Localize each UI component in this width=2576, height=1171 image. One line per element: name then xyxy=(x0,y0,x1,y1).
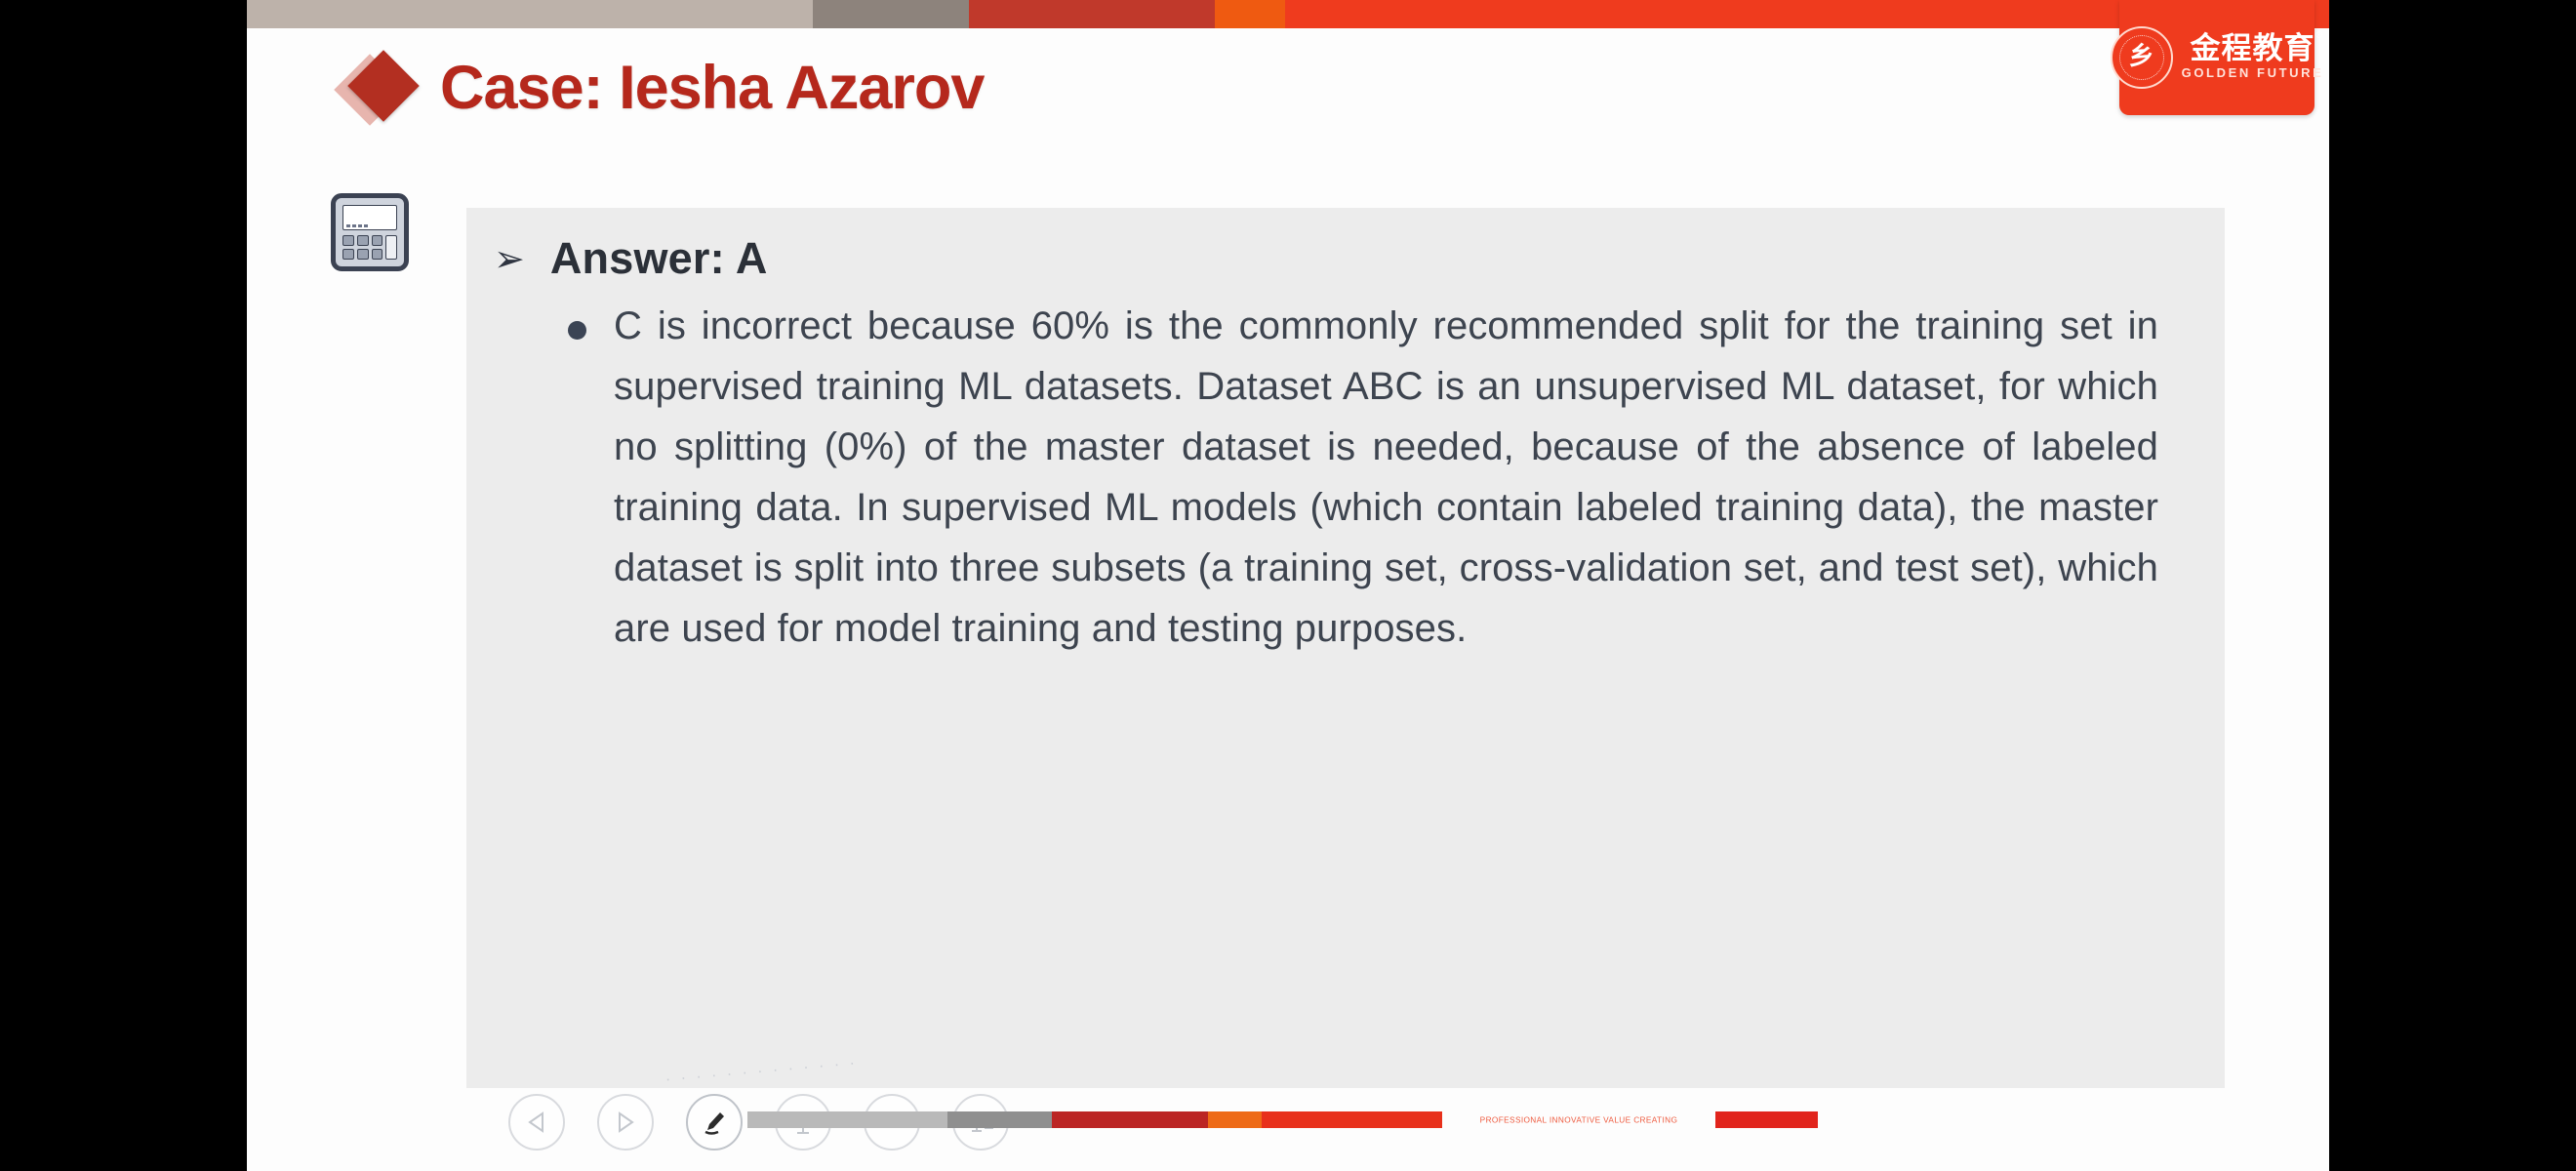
dot-bullet-icon xyxy=(568,321,586,340)
bottom-bar-segment-red xyxy=(1262,1111,1442,1128)
calculator-display-digit xyxy=(346,224,350,227)
calculator-key-enter xyxy=(385,235,397,260)
calculator-key xyxy=(357,249,369,260)
logo-seal-glyph: 乡 xyxy=(2129,44,2154,69)
bottom-bar-tagline: PROFESSIONAL INNOVATIVE VALUE CREATING xyxy=(1453,1112,1705,1128)
slide-title-row: Case: Iesha Azarov xyxy=(335,47,984,129)
calculator-keypad xyxy=(342,235,397,260)
slide: 乡 金程教育® GOLDEN FUTURE Case: Iesha Azarov xyxy=(247,0,2329,1171)
calculator-display-digit xyxy=(352,224,356,227)
ribbon-segment-dark-red xyxy=(969,0,1215,28)
diamond-icon xyxy=(335,47,417,129)
triangle-right-icon xyxy=(616,1111,635,1133)
answer-row: ➢ Answer: A xyxy=(466,208,2225,284)
calculator-display xyxy=(342,205,397,230)
ribbon-segment-taupe xyxy=(247,0,813,28)
bottom-bar-segment-red-end xyxy=(1715,1111,1818,1128)
brand-logo: 乡 金程教育® GOLDEN FUTURE xyxy=(2119,0,2314,115)
ribbon-segment-orange xyxy=(1215,0,1285,28)
logo-text: 金程教育® GOLDEN FUTURE xyxy=(2182,33,2324,83)
bottom-bar-segment-light-gray xyxy=(747,1111,947,1128)
letterbox-right xyxy=(2329,0,2576,1171)
next-slide-button[interactable] xyxy=(597,1094,654,1151)
bottom-bar-segment-orange xyxy=(1208,1111,1262,1128)
logo-chinese-label: 金程教育 xyxy=(2191,31,2315,65)
page-title: Case: Iesha Azarov xyxy=(440,53,984,123)
calculator-key xyxy=(342,249,354,260)
bottom-color-bar: PROFESSIONAL INNOVATIVE VALUE CREATING xyxy=(747,1111,1855,1128)
calculator-icon xyxy=(331,193,409,271)
bottom-bar-segment-dark-red xyxy=(1052,1111,1208,1128)
logo-seal-icon: 乡 xyxy=(2111,26,2173,89)
calculator-key xyxy=(342,235,354,246)
explanation-row: C is incorrect because 60% is the common… xyxy=(466,284,2225,659)
top-color-ribbon xyxy=(247,0,2329,28)
arrow-bullet-icon: ➢ xyxy=(494,241,525,278)
previous-slide-button[interactable] xyxy=(508,1094,565,1151)
pen-icon xyxy=(700,1108,729,1137)
logo-chinese-name: 金程教育® xyxy=(2191,33,2315,65)
ribbon-segment-warm-gray xyxy=(813,0,969,28)
bottom-bar-segment-mid-gray xyxy=(947,1111,1052,1128)
presentation-stage: 乡 金程教育® GOLDEN FUTURE Case: Iesha Azarov xyxy=(0,0,2576,1171)
pen-annotate-button[interactable] xyxy=(686,1094,743,1151)
registered-mark: ® xyxy=(2315,31,2323,42)
triangle-left-icon xyxy=(527,1111,546,1133)
calculator-key xyxy=(372,235,383,246)
calculator-key xyxy=(357,235,369,246)
letterbox-left xyxy=(0,0,247,1171)
explanation-text: C is incorrect because 60% is the common… xyxy=(614,296,2158,659)
content-panel: ➢ Answer: A C is incorrect because 60% i… xyxy=(466,208,2225,1088)
calculator-display-digit xyxy=(364,224,368,227)
answer-label: Answer: A xyxy=(550,233,768,284)
calculator-key xyxy=(372,249,383,260)
calculator-display-digit xyxy=(358,224,362,227)
logo-english-name: GOLDEN FUTURE xyxy=(2182,64,2324,82)
